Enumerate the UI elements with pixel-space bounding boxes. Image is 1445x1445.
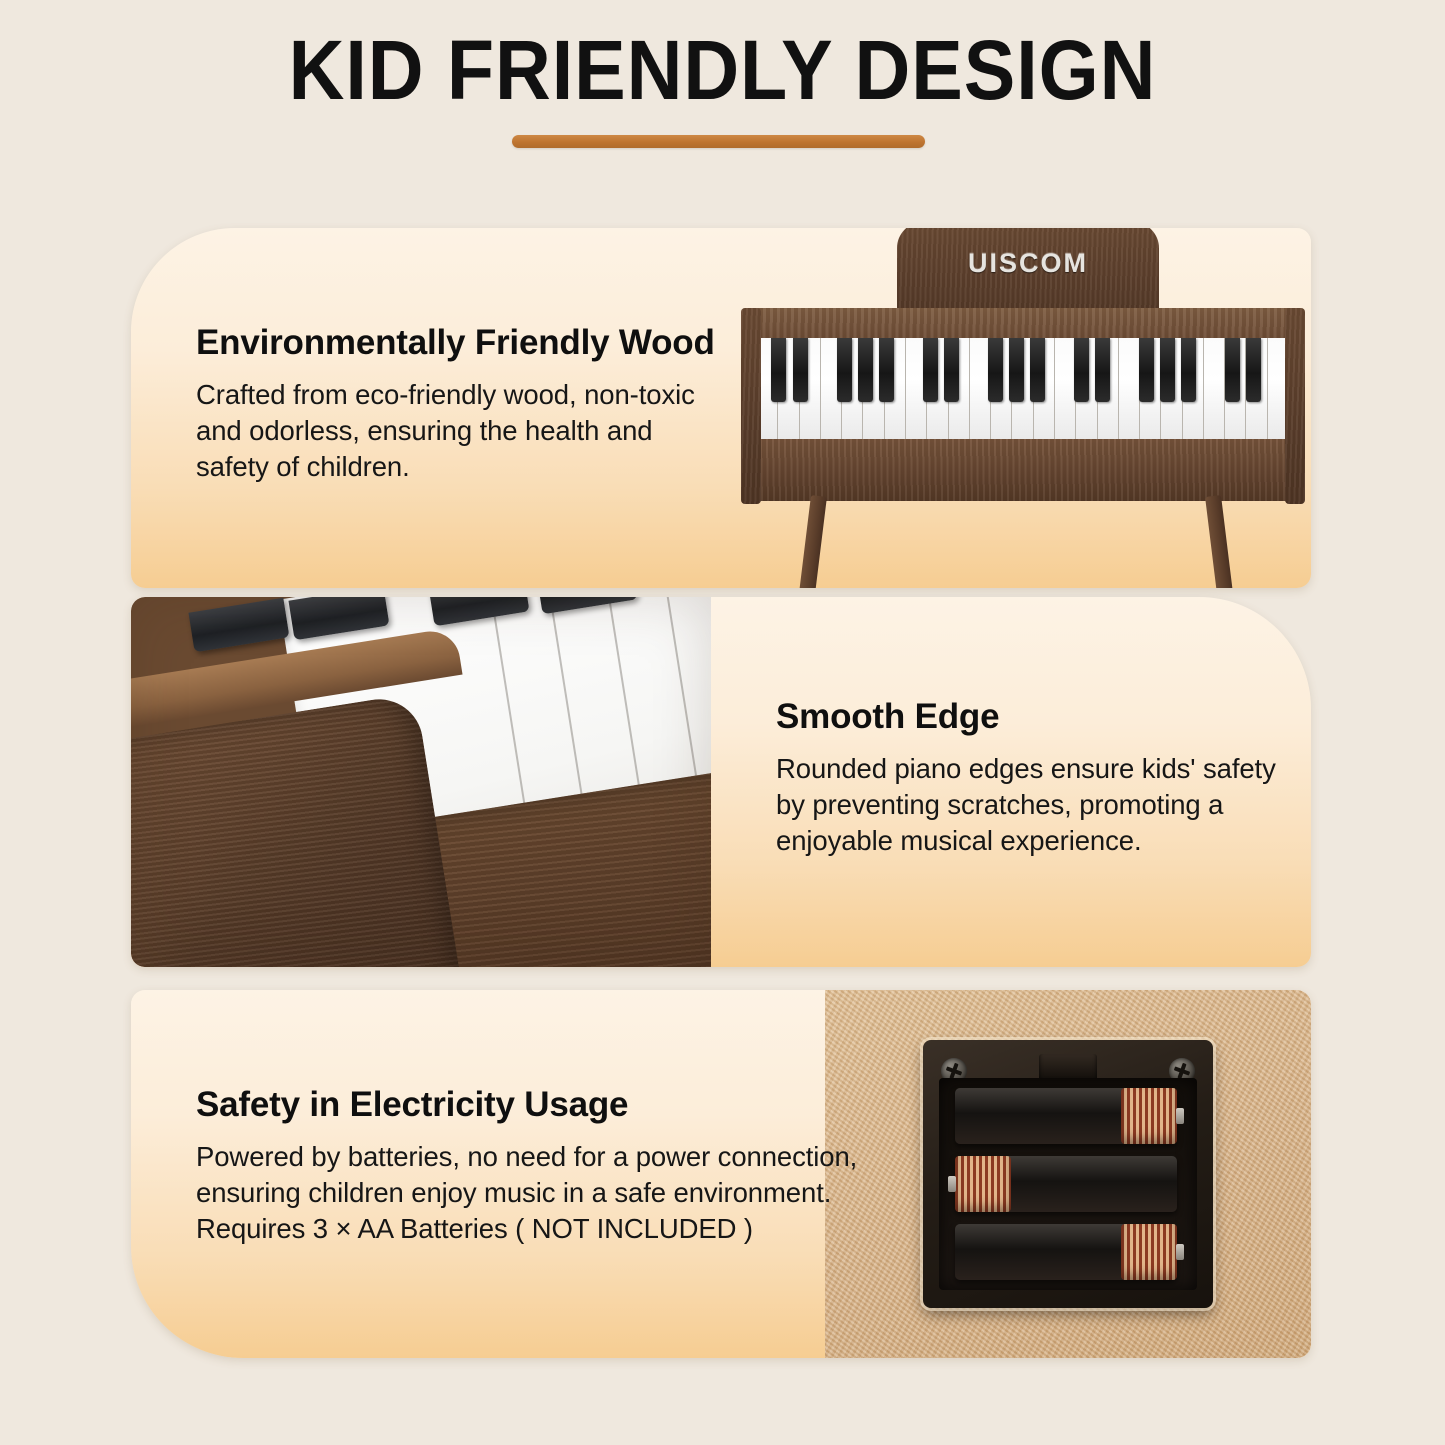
- card1-body-line: and odorless, ensuring the health and: [196, 413, 715, 449]
- piano-black-key: [1074, 338, 1089, 402]
- piano-black-key: [771, 338, 786, 402]
- battery-compartment-photo: [825, 990, 1311, 1358]
- card2-body-line: Rounded piano edges ensure kids' safety: [776, 751, 1276, 787]
- piano-black-key: [988, 338, 1003, 402]
- wood-rounded-corner-face: [131, 693, 462, 967]
- card2-heading: Smooth Edge: [776, 697, 1276, 737]
- card2-body-line: enjoyable musical experience.: [776, 823, 1276, 859]
- piano-black-key-closeup: [188, 598, 289, 653]
- piano-black-keys: [757, 338, 1289, 404]
- piano-black-key: [1246, 338, 1261, 402]
- card3-text-block: Safety in Electricity Usage Powered by b…: [196, 1085, 857, 1246]
- card1-body-line: Crafted from eco-friendly wood, non-toxi…: [196, 377, 715, 413]
- card3-body: Powered by batteries, no need for a powe…: [196, 1139, 857, 1246]
- piano-left-side-panel: [741, 308, 761, 504]
- piano-black-key: [793, 338, 808, 402]
- piano-black-key: [1095, 338, 1110, 402]
- piano-black-key: [1030, 338, 1045, 402]
- brand-logo-label: UISCOM: [897, 248, 1159, 279]
- card2-body-line: by preventing scratches, promoting a: [776, 787, 1276, 823]
- card1-body-line: safety of children.: [196, 449, 715, 485]
- piano-leg-right: [1205, 495, 1233, 588]
- card3-body-line: ensuring children enjoy music in a safe …: [196, 1175, 857, 1211]
- piano-black-key: [858, 338, 873, 402]
- header: KID FRIENDLY DESIGN: [0, 0, 1445, 180]
- battery-positive-cap: [1121, 1088, 1177, 1144]
- aa-battery: [955, 1156, 1177, 1212]
- infographic-page: KID FRIENDLY DESIGN UISCOM: [0, 0, 1445, 1445]
- piano-black-key: [1225, 338, 1240, 402]
- piano-black-key: [1139, 338, 1154, 402]
- piano-top-panel: [749, 308, 1297, 342]
- battery-slots: [939, 1078, 1197, 1290]
- card1-body: Crafted from eco-friendly wood, non-toxi…: [196, 377, 715, 484]
- feature-card-environmentally-friendly-wood: UISCOM: [131, 228, 1311, 588]
- piano-right-side-panel: [1285, 308, 1305, 504]
- smooth-edge-photo: [131, 597, 711, 967]
- piano-front-panel: [749, 439, 1297, 501]
- battery-compartment-plate: [923, 1040, 1213, 1308]
- battery-positive-cap: [955, 1156, 1011, 1212]
- card1-text-block: Environmentally Friendly Wood Crafted fr…: [196, 323, 715, 484]
- toy-piano-illustration: UISCOM: [719, 228, 1311, 588]
- card2-text-block: Smooth Edge Rounded piano edges ensure k…: [776, 697, 1276, 858]
- piano-leg-left: [799, 495, 827, 588]
- piano-black-key: [1009, 338, 1024, 402]
- card3-body-line: Powered by batteries, no need for a powe…: [196, 1139, 857, 1175]
- battery-terminal-nub: [1176, 1244, 1184, 1260]
- piano-black-key: [944, 338, 959, 402]
- feature-card-safety-in-electricity-usage: Safety in Electricity Usage Powered by b…: [131, 990, 1311, 1358]
- aa-battery: [955, 1088, 1177, 1144]
- battery-terminal-nub: [1176, 1108, 1184, 1124]
- piano-black-key: [879, 338, 894, 402]
- piano-black-key: [1181, 338, 1196, 402]
- page-title: KID FRIENDLY DESIGN: [58, 22, 1387, 119]
- feature-card-smooth-edge: Smooth Edge Rounded piano edges ensure k…: [131, 597, 1311, 967]
- piano-keybed: [757, 338, 1289, 442]
- title-underline-rule: [512, 135, 925, 148]
- card3-body-line: Requires 3 × AA Batteries ( NOT INCLUDED…: [196, 1211, 857, 1247]
- aa-battery: [955, 1224, 1177, 1280]
- piano-black-key: [923, 338, 938, 402]
- battery-terminal-nub: [948, 1176, 956, 1192]
- card1-heading: Environmentally Friendly Wood: [196, 323, 715, 363]
- piano-black-key: [1160, 338, 1175, 402]
- piano-black-key: [837, 338, 852, 402]
- card2-body: Rounded piano edges ensure kids' safety …: [776, 751, 1276, 858]
- card3-heading: Safety in Electricity Usage: [196, 1085, 857, 1125]
- battery-positive-cap: [1121, 1224, 1177, 1280]
